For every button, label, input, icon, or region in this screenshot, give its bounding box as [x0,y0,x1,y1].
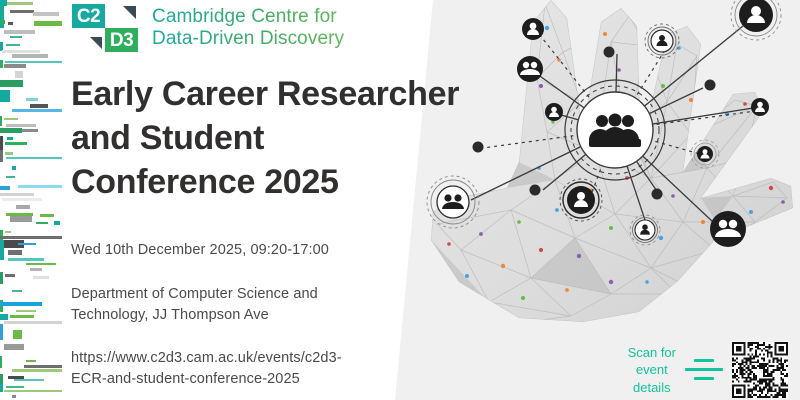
data-bar [5,61,62,63]
data-bar [8,22,13,25]
logo-cell-bottom-left [72,28,105,52]
data-bar [0,60,3,68]
scan-prompt-line3: details [628,379,676,397]
logo-c2-text: C2 [72,4,105,28]
data-bar [0,384,3,392]
data-bar [12,369,62,372]
data-bar [10,216,32,222]
event-url[interactable]: https://www.c2d3.cam.ac.uk/events/c2d3- … [71,348,342,390]
data-bar [30,268,42,271]
decorative-data-bars [0,0,62,400]
data-bar [0,374,3,384]
event-venue-line1: Department of Computer Science and [71,284,318,305]
event-venue-line2: Technology, JJ Thompson Ave [71,305,318,326]
data-bar [5,142,27,145]
data-bar [0,128,22,133]
data-bar [10,315,34,318]
scan-arrow-icon [685,353,723,387]
data-bar [12,109,62,112]
qr-code[interactable] [732,342,788,398]
data-bar [0,116,2,126]
data-bar [16,310,36,312]
data-bar [0,150,3,162]
data-bar [8,250,22,255]
data-bar [0,20,5,24]
data-bar [33,12,59,16]
data-bar [26,98,38,101]
data-bar [40,214,54,217]
data-bar [4,64,26,68]
data-bar [18,185,62,188]
data-bar [6,176,15,178]
data-bar [0,90,10,102]
event-url-line2: ECR-and-student-conference-2025 [71,369,342,390]
data-bar [24,365,62,368]
logo-cell-d3: D3 [105,28,138,52]
data-bar [4,321,62,324]
data-bar [4,30,35,34]
page-title-line3: Conference 2025 [71,160,459,204]
data-bar [0,324,3,340]
logo-wordmark-line1: Cambridge Centre for [152,6,344,28]
scan-prompt-line1: Scan for [628,344,676,362]
data-bar [6,386,24,388]
data-bar [30,104,48,108]
data-bar [34,21,62,26]
scan-prompt-line2: event [628,361,676,379]
data-bar [0,236,62,239]
logo-d3-text: D3 [105,28,138,52]
data-bar [0,6,4,28]
logo-mark: C2 D3 [72,4,138,52]
data-bar [0,136,3,150]
data-bar [6,44,20,46]
data-bar [18,243,36,245]
data-bar [4,390,62,392]
data-bar [2,50,40,53]
page-title: Early Career Researcher and Student Conf… [71,72,459,205]
logo-cell-top-right [105,4,138,28]
data-bar [12,166,16,170]
data-bar [4,118,18,120]
data-bar [26,263,56,265]
logo-wordmark-line2: Data-Driven Discovery [152,28,344,50]
page-title-line2: and Student [71,116,459,160]
data-bar [10,36,22,38]
center-hub-node [565,80,665,180]
data-bar [5,152,13,155]
data-bar [4,344,24,350]
scan-prompt-text: Scan for event details [628,344,676,397]
hand-network-illustration [415,0,800,382]
c2d3-logo[interactable]: C2 D3 Cambridge Centre for Data-Driven D… [72,4,344,52]
data-bar [6,124,36,127]
data-bar [16,205,30,209]
data-bar [12,290,22,292]
data-bar [0,186,10,190]
event-datetime: Wed 10th December 2025, 09:20-17:00 [71,240,329,261]
data-bar [7,2,33,5]
data-bar [22,129,38,132]
data-bar [54,221,60,225]
data-bar [13,330,22,339]
data-bar [0,356,2,368]
logo-cell-c2: C2 [72,4,105,28]
data-bar [5,274,15,277]
data-bar [6,157,62,159]
data-bar [7,137,13,140]
data-bar [0,80,23,87]
data-bar [0,272,3,284]
data-bar [14,379,44,381]
data-bar [0,240,4,260]
page-title-line1: Early Career Researcher [71,72,459,116]
data-bar [0,193,34,196]
data-bar [12,54,48,58]
event-url-line1: https://www.c2d3.cam.ac.uk/events/c2d3- [71,348,342,369]
data-bar [33,276,49,279]
triangle-icon [123,6,136,19]
data-bar [5,231,11,233]
data-bar [0,302,42,306]
data-bar [10,10,34,13]
data-bar [36,222,48,224]
event-venue: Department of Computer Science and Techn… [71,284,318,326]
event-datetime-text: Wed 10th December 2025, 09:20-17:00 [71,240,329,261]
data-bar [26,360,36,362]
data-bar [8,258,44,261]
conference-poster: C2 D3 Cambridge Centre for Data-Driven D… [0,0,800,400]
scan-qr-block[interactable]: Scan for event details [628,342,788,398]
data-bar [12,395,16,398]
triangle-icon [90,37,102,49]
data-bar [0,314,8,320]
data-bar [2,198,42,201]
logo-wordmark: Cambridge Centre for Data-Driven Discove… [152,6,344,51]
data-bar [15,71,23,78]
